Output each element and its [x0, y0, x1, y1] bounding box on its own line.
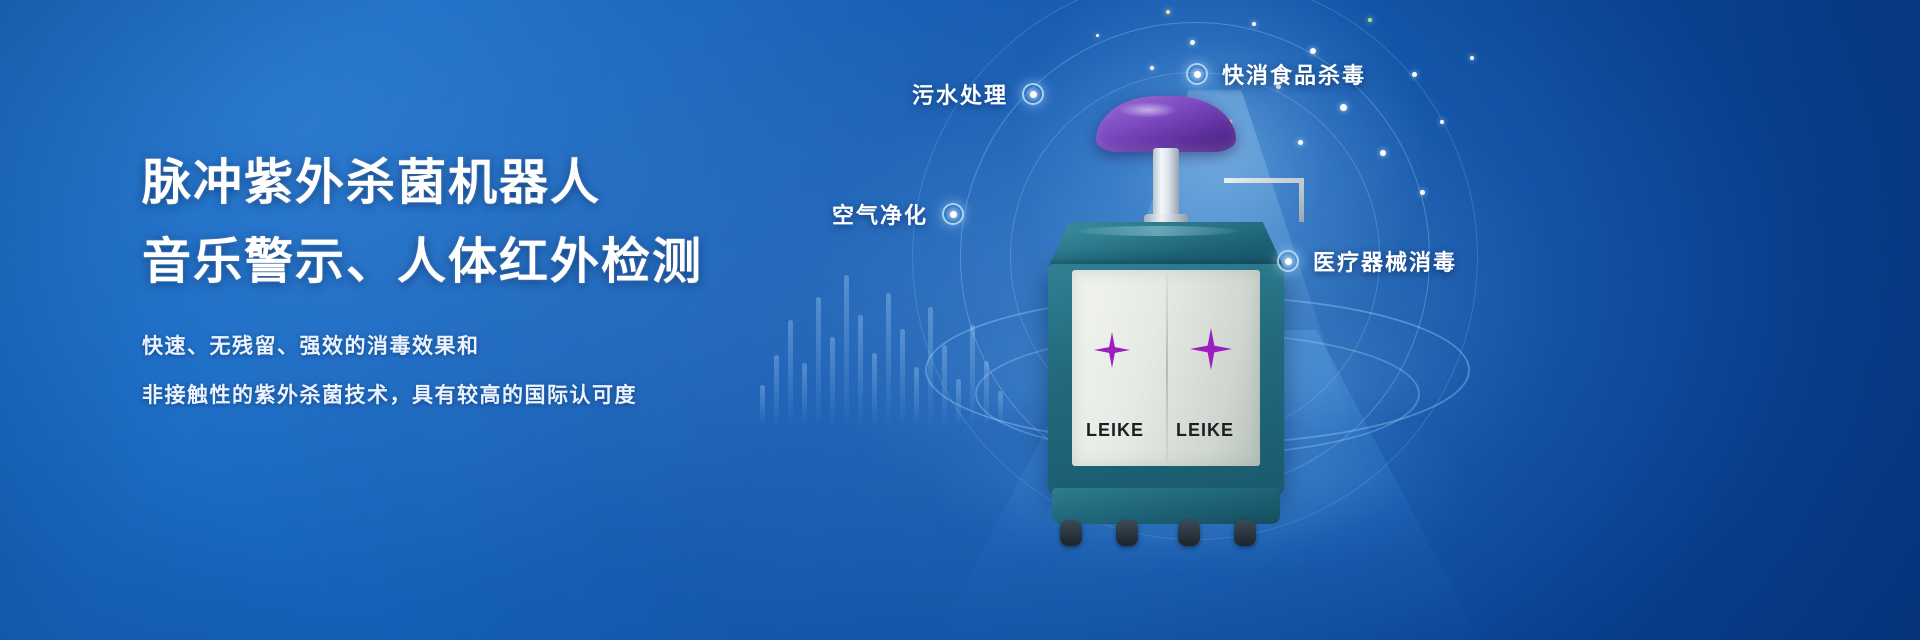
hotspot-label: 污水处理 [912, 78, 1008, 110]
particle-dot [1310, 48, 1316, 54]
hotspot-label: 快消食品杀毒 [1222, 58, 1366, 90]
hotspot-medical-device[interactable]: 医疗器械消毒 [1277, 245, 1457, 277]
particle-dot [1368, 18, 1372, 22]
particle-dot [1252, 22, 1256, 26]
particle-dot [1096, 34, 1099, 37]
device-handle [1224, 178, 1304, 222]
hotspot-waste-water[interactable]: 污水处理 [912, 78, 1044, 110]
particle-dot [1380, 150, 1386, 156]
lamp-dome-highlight [1118, 102, 1178, 118]
caster-wheel [1234, 520, 1256, 546]
node-marker-icon [1022, 83, 1044, 105]
device-base [1052, 488, 1280, 524]
brand-label: LEIKE [1086, 420, 1144, 441]
particle-dot [1298, 140, 1303, 145]
page-title: 脉冲紫外杀菌机器人 [142, 158, 842, 207]
brand-label: LEIKE [1176, 420, 1234, 441]
product-banner: LEIKE LEIKE 脉冲紫外杀菌机器人 音乐警示、人体红外检测 快速、无残留… [0, 0, 1920, 640]
hotspot-label: 空气净化 [832, 198, 928, 230]
device-front-panel: LEIKE LEIKE [1072, 270, 1260, 466]
node-marker-icon [1277, 250, 1299, 272]
device-cabinet: LEIKE LEIKE [1048, 264, 1284, 494]
description-line-2: 非接触性的紫外杀菌技术，具有较高的国际认可度 [142, 385, 842, 406]
hotspot-label: 医疗器械消毒 [1313, 245, 1457, 277]
particle-dot [1150, 66, 1154, 70]
node-marker-icon [1186, 63, 1208, 85]
particle-dot [1340, 104, 1347, 111]
sparkle-icon [1190, 328, 1232, 370]
particle-dot [1166, 10, 1170, 14]
particle-dot [1420, 190, 1425, 195]
particle-dot [1440, 120, 1444, 124]
node-marker-icon [942, 203, 964, 225]
particle-dot [1412, 72, 1417, 77]
lamp-stem [1153, 148, 1179, 220]
device-body-top-highlight [1078, 226, 1238, 236]
caster-wheel [1060, 520, 1082, 546]
caster-wheel [1178, 520, 1200, 546]
hotspot-food-sterilize[interactable]: 快消食品杀毒 [1186, 58, 1366, 90]
headline-text-block: 脉冲紫外杀菌机器人 音乐警示、人体红外检测 快速、无残留、强效的消毒效果和 非接… [142, 158, 842, 406]
caster-wheel [1116, 520, 1138, 546]
page-subtitle: 音乐警示、人体红外检测 [142, 237, 842, 286]
uv-robot-device: LEIKE LEIKE [1038, 96, 1288, 516]
hotspot-air-purify[interactable]: 空气净化 [832, 198, 964, 230]
particle-dot [1190, 40, 1195, 45]
sparkle-icon [1094, 332, 1130, 368]
particle-dot [1470, 56, 1474, 60]
description-line-1: 快速、无残留、强效的消毒效果和 [142, 336, 842, 357]
panel-divider [1166, 274, 1168, 462]
